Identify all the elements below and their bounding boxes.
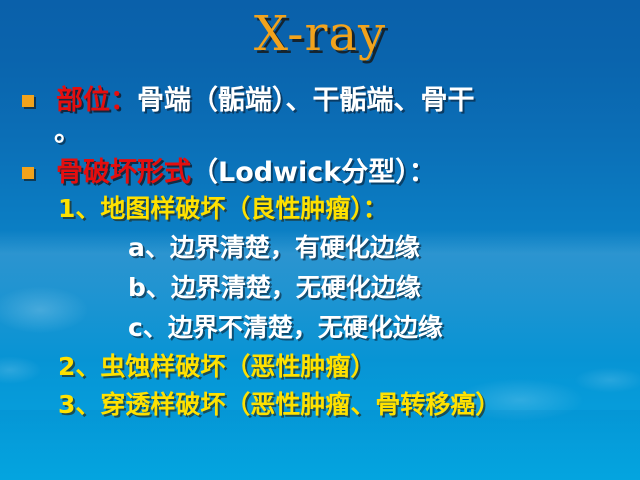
square-bullet-icon	[22, 95, 34, 107]
bullet-label-red: 部位：	[56, 85, 137, 116]
bullet-label-red: 骨破坏形式	[56, 157, 191, 188]
list-item-text: c、边界不清楚，无硬化边缘	[128, 313, 443, 342]
bullet-label-white: （Lodwick分型）：	[191, 157, 436, 188]
list-item-text: 2、虫蚀样破坏（恶性肿瘤）	[58, 352, 375, 381]
list-item-1a: a、边界清楚，有硬化边缘	[0, 228, 640, 268]
list-item-2: 2、虫蚀样破坏（恶性肿瘤）	[0, 348, 640, 386]
list-item-1c: c、边界不清楚，无硬化边缘	[0, 308, 640, 348]
bullet-item-location-wrap: 。	[0, 118, 640, 148]
list-item-3: 3、穿透样破坏（恶性肿瘤、骨转移癌）	[0, 386, 640, 424]
bullet-item-location: 部位：骨端（骺端）、干骺端、骨干	[0, 84, 640, 118]
list-item-text: 1、地图样破坏（良性肿瘤）：	[58, 194, 388, 223]
list-item-1: 1、地图样破坏（良性肿瘤）：	[0, 190, 640, 228]
list-item-text: a、边界清楚，有硬化边缘	[128, 233, 420, 262]
slide-body: 部位：骨端（骺端）、干骺端、骨干 。 骨破坏形式（Lodwick分型）： 1、地…	[0, 84, 640, 424]
square-bullet-icon	[22, 167, 34, 179]
list-item-text: b、边界清楚，无硬化边缘	[128, 273, 421, 302]
presentation-slide: X-ray 部位：骨端（骺端）、干骺端、骨干 。 骨破坏形式（Lodwick分型…	[0, 0, 640, 480]
list-item-text: 3、穿透样破坏（恶性肿瘤、骨转移癌）	[58, 390, 500, 419]
bullet-label-wrapped: 。	[54, 117, 81, 148]
list-item-1b: b、边界清楚，无硬化边缘	[0, 268, 640, 308]
bullet-label-white: 骨端（骺端）、干骺端、骨干	[137, 85, 475, 116]
slide-title: X-ray	[0, 6, 640, 62]
bullet-item-destruction-type: 骨破坏形式（Lodwick分型）：	[0, 156, 640, 190]
